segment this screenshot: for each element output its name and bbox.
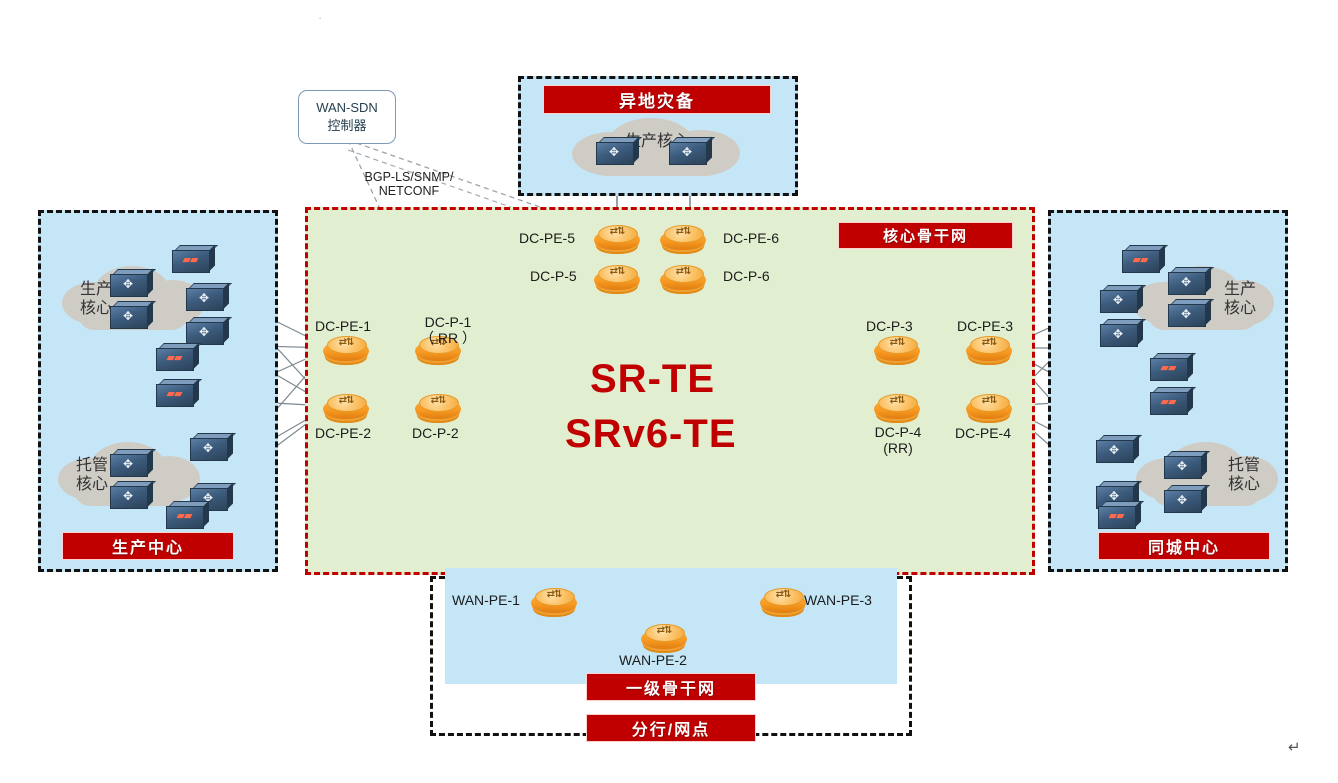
label-dc-p-3: DC-P-3 — [866, 318, 913, 334]
banner-label: 生产中心 — [112, 534, 184, 558]
label-dc-p-1: DC-P-1 （ RR ） — [406, 314, 490, 346]
router-icon: ⇄⇅ — [641, 625, 687, 636]
router-dc-pe-5[interactable]: ⇄⇅ — [594, 224, 640, 256]
cloud-label-line2: 核心 — [1208, 475, 1280, 494]
switch-right-agg-1[interactable]: ✥ — [1100, 284, 1144, 312]
router-dc-pe-2[interactable]: ⇄⇅ — [323, 393, 369, 425]
label-dc-p-4-name: DC-P-4 — [862, 424, 934, 440]
protocol-line2: NETCONF — [344, 184, 474, 198]
router-icon: ⇄⇅ — [760, 589, 806, 600]
switch-left-host-2[interactable]: ✥ — [110, 480, 154, 508]
switch-icon: ✥ — [1100, 328, 1136, 340]
switch-icon: ✥ — [1164, 494, 1200, 506]
label-dc-pe-3: DC-PE-3 — [957, 318, 1013, 334]
switch-icon: ✥ — [110, 458, 146, 470]
banner-label: 同城中心 — [1148, 534, 1220, 558]
switch-icon: ✥ — [1168, 276, 1204, 288]
switch-left-agg-2[interactable]: ✥ — [186, 316, 230, 344]
router-dc-pe-4[interactable]: ⇄⇅ — [966, 393, 1012, 425]
switch-right-host-2[interactable]: ✥ — [1164, 484, 1208, 512]
firewall-icon: ▰▰ — [156, 352, 192, 364]
wan-sdn-controller-box[interactable]: WAN-SDN 控制器 — [298, 90, 396, 144]
label-dc-p-1-rr: （ RR ） — [406, 330, 490, 346]
switch-icon: ✥ — [110, 310, 146, 322]
banner-label: 异地灾备 — [619, 87, 695, 112]
router-wan-pe-3[interactable]: ⇄⇅ — [760, 587, 806, 619]
banner-level1-backbone: 一级骨干网 — [586, 673, 756, 701]
router-icon: ⇄⇅ — [531, 589, 577, 600]
firewall-right-2[interactable]: ▰▰ — [1150, 352, 1194, 380]
srte-label: SR-TE — [590, 357, 715, 402]
label-dc-pe-6: DC-PE-6 — [723, 230, 779, 246]
label-dc-pe-1: DC-PE-1 — [315, 318, 371, 334]
switch-icon: ✥ — [1100, 294, 1136, 306]
banner-same-city-center: 同城中心 — [1098, 532, 1270, 560]
router-dc-p-6[interactable]: ⇄⇅ — [660, 264, 706, 296]
firewall-left-4[interactable]: ▰▰ — [166, 500, 210, 528]
switch-icon: ✥ — [596, 146, 632, 158]
firewall-icon: ▰▰ — [1150, 396, 1186, 408]
cloud-dr-production-core: 生产核心 — [562, 116, 752, 178]
banner-label: 核心骨干网 — [883, 225, 968, 246]
label-dc-p-2: DC-P-2 — [412, 425, 459, 441]
switch-icon: ✥ — [110, 278, 146, 290]
cloud-label: 生产核心 — [562, 132, 752, 151]
label-dc-p-6: DC-P-6 — [723, 268, 770, 284]
switch-icon: ✥ — [669, 146, 705, 158]
label-dc-pe-4: DC-PE-4 — [955, 425, 1011, 441]
protocol-label: BGP-LS/SNMP/ NETCONF — [344, 170, 474, 199]
firewall-right-4[interactable]: ▰▰ — [1098, 500, 1142, 528]
router-icon: ⇄⇅ — [660, 266, 706, 277]
firewall-icon: ▰▰ — [1098, 510, 1134, 522]
firewall-left-1[interactable]: ▰▰ — [172, 244, 216, 272]
router-wan-pe-2[interactable]: ⇄⇅ — [641, 623, 687, 655]
switch-right-agg-2[interactable]: ✥ — [1100, 318, 1144, 346]
banner-core-backbone: 核心骨干网 — [838, 222, 1013, 249]
top-artifact-mark: · — [318, 10, 322, 25]
switch-left-prod-2[interactable]: ✥ — [110, 300, 154, 328]
switch-icon: ✥ — [1096, 444, 1132, 456]
switch-icon: ✥ — [110, 490, 146, 502]
router-icon: ⇄⇅ — [594, 266, 640, 277]
router-dc-pe-1[interactable]: ⇄⇅ — [323, 335, 369, 367]
router-icon: ⇄⇅ — [874, 395, 920, 406]
switch-icon: ✥ — [190, 442, 226, 454]
firewall-left-3[interactable]: ▰▰ — [156, 378, 200, 406]
switch-left-prod-1[interactable]: ✥ — [110, 268, 154, 296]
firewall-icon: ▰▰ — [172, 254, 208, 266]
label-dc-pe-2: DC-PE-2 — [315, 425, 371, 441]
label-wan-pe-3: WAN-PE-3 — [804, 592, 872, 608]
label-wan-pe-1: WAN-PE-1 — [452, 592, 520, 608]
switch-left-host-1[interactable]: ✥ — [110, 448, 154, 476]
router-icon: ⇄⇅ — [415, 395, 461, 406]
cloud-label: 托管 核心 — [1208, 456, 1280, 494]
controller-title: WAN-SDN — [316, 99, 378, 117]
firewall-icon: ▰▰ — [166, 510, 202, 522]
router-dc-pe-6[interactable]: ⇄⇅ — [660, 224, 706, 256]
paragraph-mark: ↵ — [1288, 738, 1301, 756]
label-dc-p-1-name: DC-P-1 — [406, 314, 490, 330]
router-icon: ⇄⇅ — [874, 337, 920, 348]
switch-right-prod-2[interactable]: ✥ — [1168, 298, 1212, 326]
switch-dr-1[interactable]: ✥ — [596, 136, 640, 164]
router-dc-p-4[interactable]: ⇄⇅ — [874, 393, 920, 425]
cloud-label-line1: 生产 — [1204, 280, 1276, 299]
label-dc-p-5: DC-P-5 — [530, 268, 577, 284]
router-dc-pe-3[interactable]: ⇄⇅ — [966, 335, 1012, 367]
switch-icon: ✥ — [1164, 460, 1200, 472]
switch-right-prod-1[interactable]: ✥ — [1168, 266, 1212, 294]
firewall-icon: ▰▰ — [1122, 254, 1158, 266]
cloud-label-line1: 托管 — [1208, 456, 1280, 475]
banner-label: 分行/网点 — [632, 716, 710, 740]
router-icon: ⇄⇅ — [660, 226, 706, 237]
switch-left-agg-3[interactable]: ✥ — [190, 432, 234, 460]
router-icon: ⇄⇅ — [594, 226, 640, 237]
label-dc-p-4-rr: (RR) — [862, 440, 934, 456]
switch-icon: ✥ — [1168, 308, 1204, 320]
switch-icon: ✥ — [186, 326, 222, 338]
label-wan-pe-2: WAN-PE-2 — [619, 652, 687, 668]
router-icon: ⇄⇅ — [323, 395, 369, 406]
protocol-line1: BGP-LS/SNMP/ — [344, 170, 474, 184]
router-wan-pe-1[interactable]: ⇄⇅ — [531, 587, 577, 619]
switch-right-host-1[interactable]: ✥ — [1164, 450, 1208, 478]
srv6te-label: SRv6-TE — [565, 412, 737, 457]
firewall-icon: ▰▰ — [1150, 362, 1186, 374]
router-icon: ⇄⇅ — [966, 395, 1012, 406]
firewall-icon: ▰▰ — [156, 388, 192, 400]
firewall-right-3[interactable]: ▰▰ — [1150, 386, 1194, 414]
switch-dr-2[interactable]: ✥ — [669, 136, 713, 164]
router-icon: ⇄⇅ — [323, 337, 369, 348]
switch-icon: ✥ — [186, 292, 222, 304]
banner-disaster-recovery: 异地灾备 — [543, 85, 771, 114]
firewall-right-1[interactable]: ▰▰ — [1122, 244, 1166, 272]
firewall-left-2[interactable]: ▰▰ — [156, 342, 200, 370]
router-dc-p-5[interactable]: ⇄⇅ — [594, 264, 640, 296]
controller-subtitle: 控制器 — [327, 117, 366, 135]
banner-label: 一级骨干网 — [626, 675, 716, 699]
label-dc-p-4: DC-P-4 (RR) — [862, 424, 934, 456]
router-dc-p-3[interactable]: ⇄⇅ — [874, 335, 920, 367]
label-dc-pe-5: DC-PE-5 — [519, 230, 575, 246]
cloud-label-line2: 核心 — [1204, 299, 1276, 318]
router-icon: ⇄⇅ — [966, 337, 1012, 348]
router-dc-p-2[interactable]: ⇄⇅ — [415, 393, 461, 425]
switch-right-agg-3[interactable]: ✥ — [1096, 434, 1140, 462]
cloud-label: 生产 核心 — [1204, 280, 1276, 318]
network-diagram-canvas: 异地灾备 核心骨干网 生产中心 同城中心 一级骨干网 分行/网点 WAN-SDN… — [0, 0, 1338, 783]
banner-branch-outlet: 分行/网点 — [586, 714, 756, 742]
switch-left-agg-1[interactable]: ✥ — [186, 282, 230, 310]
banner-production-center: 生产中心 — [62, 532, 234, 560]
